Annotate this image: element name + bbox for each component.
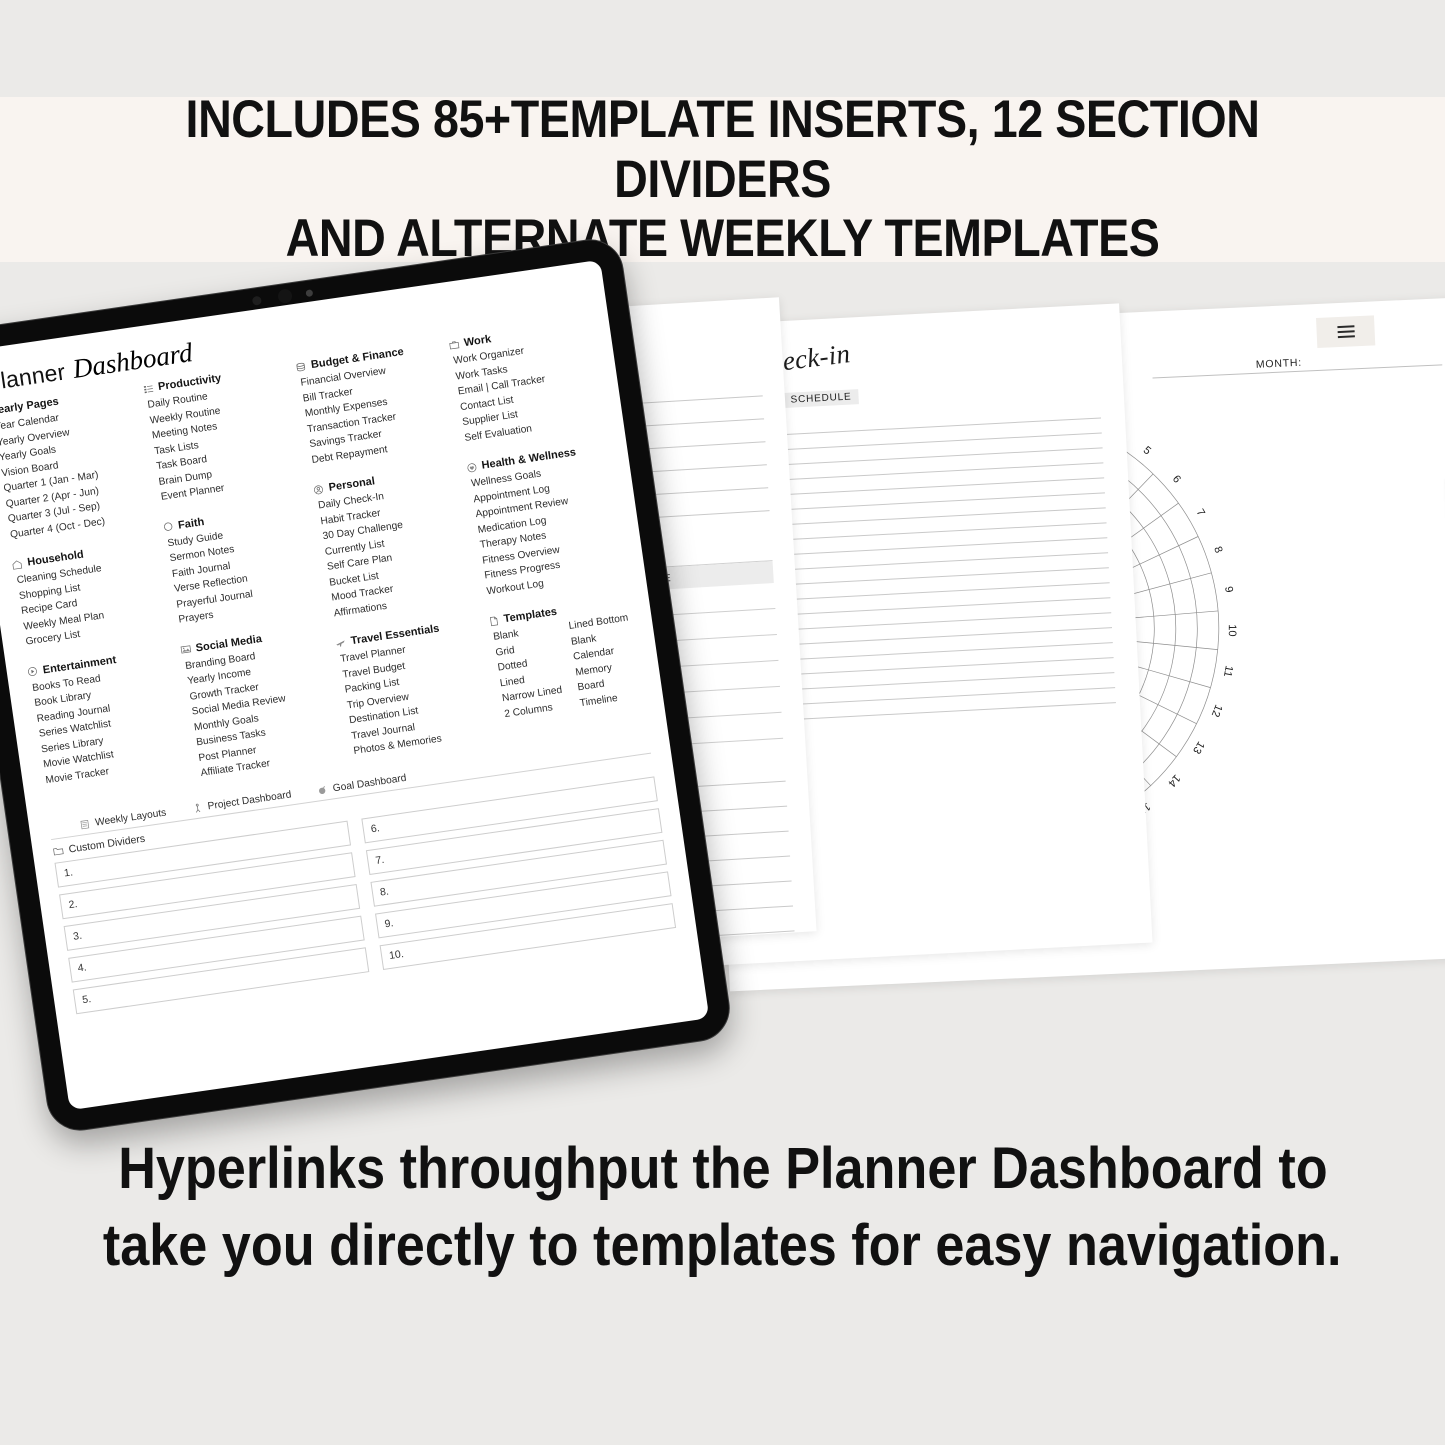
group-title: Faith [177,516,205,532]
menu-icon[interactable] [1316,315,1375,348]
habit-month-label: MONTH: [1256,357,1303,371]
footer-line-2: take you directly to templates for easy … [103,1212,1342,1279]
group-productivity: ProductivityDaily RoutineWeekly RoutineM… [142,363,301,506]
group-title: Work [463,333,492,349]
coins-icon [295,360,307,372]
footer-caption: Hyperlinks throughput the Planner Dashbo… [0,1135,1445,1280]
subcolumn-1: BlankGridDottedLinedNarrow Lined2 Column… [489,621,568,722]
briefcase-icon [447,338,459,350]
group-personal: PersonalDaily Check-InHabit Tracker30 Da… [312,464,473,622]
group-social-media: Social MediaBranding BoardYearly IncomeG… [179,624,340,782]
group-subcolumns: BlankGridDottedLinedNarrow Lined2 Column… [489,610,643,722]
circle-icon [161,521,173,533]
group-household: HouseholdCleaning ScheduleShopping ListR… [11,539,165,651]
daily-right-column: SCHEDULE [783,374,1127,924]
habit-day-label: 12 [1209,703,1225,719]
page-title-plain: Planner [0,358,67,396]
habit-day-label: 9 [1222,585,1235,593]
group-budget-finance: Budget & FinanceFinancial OverviewBill T… [294,341,450,468]
house-icon [11,558,23,570]
schedule-lines[interactable] [785,403,1116,719]
list-icon [142,382,154,394]
dashboard-columns: Yearly PagesYear CalendarYearly Overview… [0,319,648,820]
group-travel-essentials: Travel EssentialsTravel PlannerTravel Bu… [334,617,493,760]
subcolumn-2: Lined BottomBlank CalendarMemory BoardTi… [565,610,644,711]
habit-day-label: 7 [1194,507,1207,518]
heart-pin-icon [465,461,477,473]
group-faith: FaithStudy GuideSermon NotesFaith Journa… [161,501,317,628]
habit-day-label: 10 [1226,624,1238,636]
group-yearly-pages: Yearly PagesYear CalendarYearly Overview… [0,385,149,543]
group-work: WorkWork OrganizerWork TasksEmail | Call… [447,319,603,446]
habit-day-label: 13 [1190,739,1207,756]
tag-schedule: SCHEDULE [783,389,859,408]
footer-line-1: Hyperlinks throughput the Planner Dashbo… [118,1135,1327,1202]
image-icon [179,643,191,655]
product-mockup-stage: Habit Tracker MONTH: 1234567891011121314… [0,262,1445,1132]
planner-dashboard: Planner Dashboard Yearly PagesYear Calen… [0,260,709,1110]
group-templates: TemplatesBlankGridDottedLinedNarrow Line… [487,595,643,722]
header-banner: INCLUDES 85+TEMPLATE INSERTS, 12 SECTION… [0,97,1445,262]
habit-day-label: 8 [1211,545,1224,555]
weekly-icon [79,818,91,830]
folder-icon [52,844,64,856]
person-icon [312,483,324,495]
plane-icon [334,637,346,649]
group-health-wellness: Health & WellnessWellness GoalsAppointme… [465,442,626,600]
habit-day-label: 5 [1141,444,1153,457]
play-circle-icon [26,665,38,677]
project-icon [191,802,203,814]
page-icon [487,615,499,627]
habit-day-label: 14 [1165,772,1182,789]
tablet-screen: Planner Dashboard Yearly PagesYear Calen… [0,260,709,1110]
header-line-1: INCLUDES 85+TEMPLATE INSERTS, 12 SECTION… [87,90,1359,209]
goal-icon [316,784,328,796]
tablet-device: Planner Dashboard Yearly PagesYear Calen… [0,235,734,1135]
header-line-2: AND ALTERNATE WEEKLY TEMPLATES [286,209,1160,268]
habit-day-label: 11 [1221,664,1235,677]
group-entertainment: EntertainmentBooks To ReadBook LibraryRe… [26,646,185,789]
habit-day-label: 6 [1170,473,1183,485]
